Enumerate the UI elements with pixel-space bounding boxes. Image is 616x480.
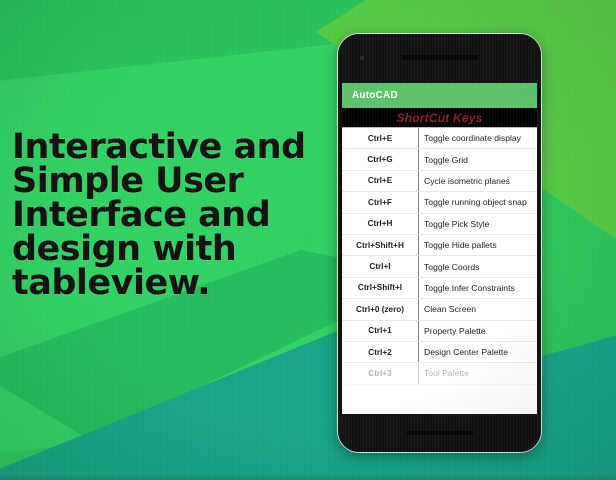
section-header: ShortCut Keys <box>342 108 537 127</box>
table-row[interactable]: Ctrl+FToggle running object snap <box>342 192 537 213</box>
phone-bottom-bezel <box>338 414 541 452</box>
phone-mockup: AutoCAD ShortCut Keys Ctrl+EToggle coord… <box>337 33 542 453</box>
table-row[interactable]: Ctrl+GToggle Grid <box>342 149 537 170</box>
phone-screen: AutoCAD ShortCut Keys Ctrl+EToggle coord… <box>342 83 537 416</box>
shortcut-key-cell: Ctrl+Shift+I <box>342 283 418 292</box>
promo-headline: Interactive and Simple User Interface an… <box>12 131 338 301</box>
shortcut-action-cell: Clean Screen <box>419 304 537 314</box>
bottom-speaker-icon <box>407 431 473 435</box>
section-header-title: ShortCut Keys <box>397 111 483 125</box>
headline-line-3: Interface and <box>12 199 338 233</box>
background-bottom-edge <box>0 474 616 480</box>
shortcut-action-cell: Tool Palette <box>419 368 537 378</box>
headline-line-2: Simple User <box>12 165 338 199</box>
table-row[interactable]: Ctrl+HToggle Pick Style <box>342 214 537 235</box>
shortcut-key-cell: Ctrl+2 <box>342 348 418 357</box>
headline-line-1: Interactive and <box>12 131 338 165</box>
shortcut-action-cell: Toggle Pick Style <box>419 219 537 229</box>
shortcut-key-cell: Ctrl+3 <box>342 369 418 378</box>
table-row[interactable]: Ctrl+ECycle isometric planes <box>342 171 537 192</box>
shortcut-action-cell: Design Center Palette <box>419 347 537 357</box>
front-camera-icon <box>360 56 364 60</box>
table-row[interactable]: Ctrl+0 (zero)Clean Screen <box>342 299 537 320</box>
shortcut-action-cell: Toggle Infer Constraints <box>419 283 537 293</box>
shortcut-key-cell: Ctrl+Shift+H <box>342 241 418 250</box>
shortcut-key-cell: Ctrl+F <box>342 198 418 207</box>
shortcut-key-cell: Ctrl+E <box>342 176 418 185</box>
shortcut-key-cell: Ctrl+1 <box>342 326 418 335</box>
table-row[interactable]: Ctrl+Shift+IToggle Infer Constraints <box>342 278 537 299</box>
table-row[interactable]: Ctrl+2Design Center Palette <box>342 342 537 363</box>
table-row[interactable]: Ctrl+IToggle Coords <box>342 256 537 277</box>
app-bar: AutoCAD <box>342 83 537 108</box>
app-bar-title: AutoCAD <box>352 90 398 101</box>
shortcut-action-cell: Property Palette <box>419 326 537 336</box>
headline-line-4: design with <box>12 233 338 267</box>
earpiece-speaker-icon <box>401 54 479 60</box>
table-row[interactable]: Ctrl+EToggle coordinate display <box>342 128 537 149</box>
shortcut-action-cell: Toggle Grid <box>419 155 537 165</box>
shortcut-action-cell: Toggle running object snap <box>419 197 537 207</box>
shortcut-key-cell: Ctrl+H <box>342 219 418 228</box>
shortcut-action-cell: Toggle Coords <box>419 262 537 272</box>
phone-top-bezel <box>338 34 541 83</box>
table-row[interactable]: Ctrl+1Property Palette <box>342 321 537 342</box>
headline-line-5: tableview. <box>12 267 338 301</box>
table-row[interactable]: Ctrl+3Tool Palette <box>342 363 537 384</box>
table-row[interactable]: Ctrl+Shift+HToggle Hide pallets <box>342 235 537 256</box>
shortcut-key-cell: Ctrl+0 (zero) <box>342 305 418 314</box>
shortcut-action-cell: Toggle coordinate display <box>419 133 537 143</box>
shortcut-action-cell: Cycle isometric planes <box>419 176 537 186</box>
shortcut-table[interactable]: Ctrl+EToggle coordinate displayCtrl+GTog… <box>342 127 537 416</box>
shortcut-key-cell: Ctrl+G <box>342 155 418 164</box>
shortcut-action-cell: Toggle Hide pallets <box>419 240 537 250</box>
shortcut-key-cell: Ctrl+E <box>342 134 418 143</box>
shortcut-key-cell: Ctrl+I <box>342 262 418 271</box>
